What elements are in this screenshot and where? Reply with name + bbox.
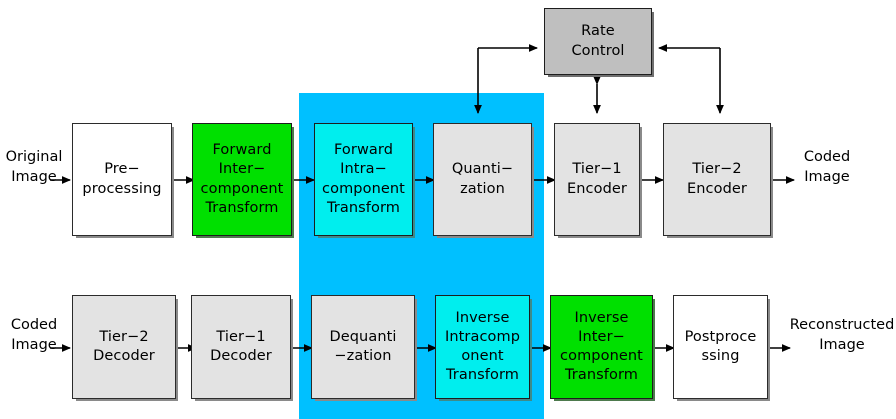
block-dequantization[interactable]: Dequanti −zation (311, 295, 415, 399)
label-coded-image-out: Coded Image (792, 148, 862, 187)
diagram-canvas: Original Image Pre− processing Forward I… (0, 0, 896, 419)
block-inverse-intercomponent-transform[interactable]: Inverse Inter− component Transform (550, 295, 653, 399)
label-original-image: Original Image (2, 148, 66, 187)
block-pre-processing[interactable]: Pre− processing (72, 123, 172, 236)
block-inverse-intracomponent-transform[interactable]: Inverse Intracomp onent Transform (435, 295, 530, 399)
label-coded-image-in: Coded Image (2, 316, 66, 355)
block-tier-1-decoder[interactable]: Tier−1 Decoder (191, 295, 291, 399)
label-reconstructed-image: Reconstructed Image (788, 316, 896, 355)
block-forward-intercomponent-transform[interactable]: Forward Inter− component Transform (192, 123, 292, 236)
block-postprocessing[interactable]: Postproce ssing (673, 295, 768, 399)
block-tier-1-encoder[interactable]: Tier−1 Encoder (554, 123, 640, 236)
block-forward-intracomponent-transform[interactable]: Forward Intra− component Transform (314, 123, 413, 236)
block-quantization[interactable]: Quanti− zation (433, 123, 532, 236)
block-rate-control[interactable]: Rate Control (544, 8, 652, 75)
block-tier-2-encoder[interactable]: Tier−2 Encoder (663, 123, 771, 236)
block-tier-2-decoder[interactable]: Tier−2 Decoder (72, 295, 176, 399)
